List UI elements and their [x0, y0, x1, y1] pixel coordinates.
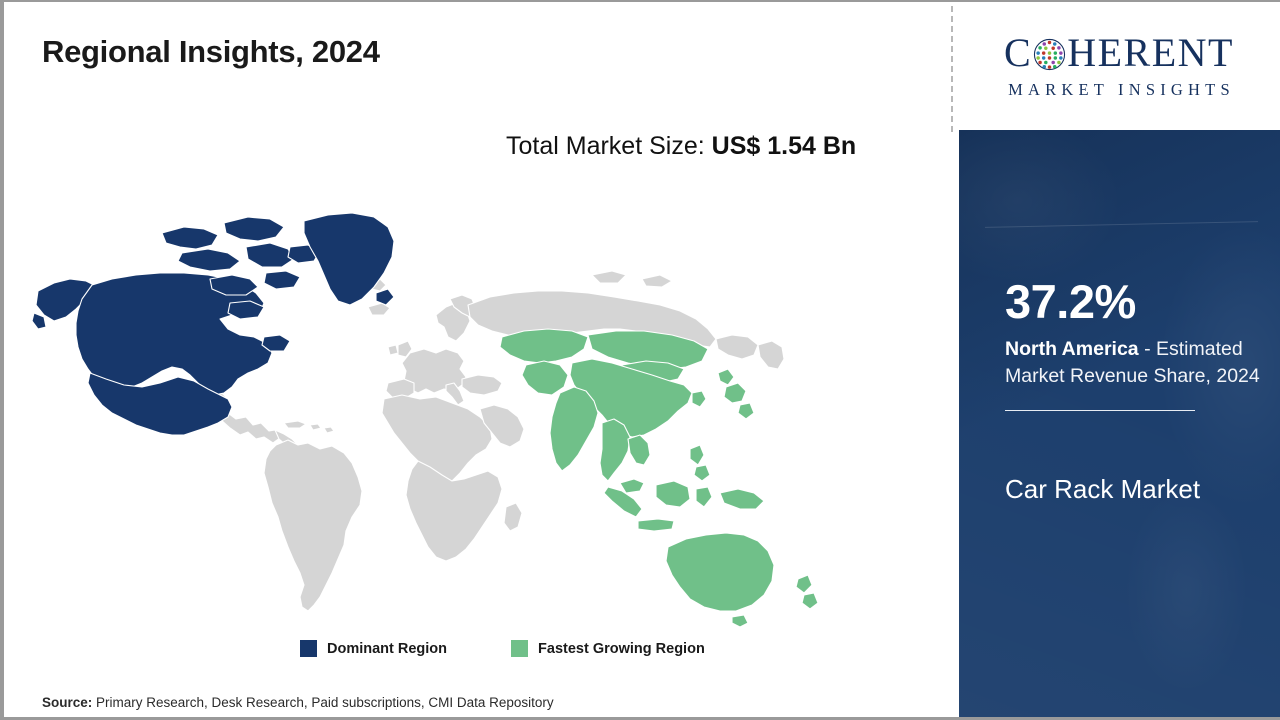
panel-background-streak	[985, 222, 1258, 229]
source-note: Source: Primary Research, Desk Research,…	[42, 695, 554, 710]
map-legend: Dominant Region Fastest Growing Region	[300, 640, 705, 657]
total-market-size: Total Market Size: US$ 1.54 Bn	[506, 127, 891, 166]
right-panel: C	[954, 2, 1280, 720]
market-name: Car Rack Market	[1005, 468, 1275, 512]
brand-logo-wordmark: C	[1004, 33, 1234, 73]
infographic-page: Regional Insights, 2024 Total Market Siz…	[0, 0, 1280, 720]
world-map-svg	[32, 187, 842, 627]
legend-item-fastest-growing: Fastest Growing Region	[511, 640, 705, 657]
stat-description: North America - Estimated Market Revenue…	[1005, 336, 1275, 390]
brand-logo-letter-c: C	[1004, 33, 1032, 73]
brand-logo-letters-herent: HERENT	[1067, 33, 1234, 73]
total-market-size-value: US$ 1.54 Bn	[712, 132, 857, 160]
source-label: Source:	[42, 695, 92, 710]
page-title: Regional Insights, 2024	[42, 34, 380, 70]
stat-block: 37.2% North America - Estimated Market R…	[1005, 278, 1275, 411]
legend-label-fastest-growing: Fastest Growing Region	[538, 641, 705, 657]
source-text: Primary Research, Desk Research, Paid su…	[92, 695, 553, 710]
map-region-north-america	[32, 213, 394, 435]
square-swatch-icon	[511, 640, 528, 657]
square-swatch-icon	[300, 640, 317, 657]
panel-background-texture	[959, 130, 1280, 720]
stat-percentage: 37.2%	[1005, 278, 1275, 325]
vertical-dashed-divider	[951, 6, 953, 132]
world-map	[32, 187, 842, 627]
legend-item-dominant: Dominant Region	[300, 640, 447, 657]
stat-region-name: North America	[1005, 338, 1139, 360]
stat-divider	[1005, 410, 1195, 411]
stat-panel: 37.2% North America - Estimated Market R…	[959, 130, 1280, 720]
brand-logo-tagline: MARKET INSIGHTS	[1003, 80, 1235, 100]
globe-dots-icon	[1033, 38, 1066, 71]
map-region-asia-pacific	[500, 329, 818, 627]
left-content-pane: Regional Insights, 2024 Total Market Siz…	[4, 2, 952, 720]
legend-label-dominant: Dominant Region	[327, 641, 447, 657]
total-market-size-label: Total Market Size:	[506, 132, 705, 160]
brand-logo: C	[954, 2, 1280, 130]
